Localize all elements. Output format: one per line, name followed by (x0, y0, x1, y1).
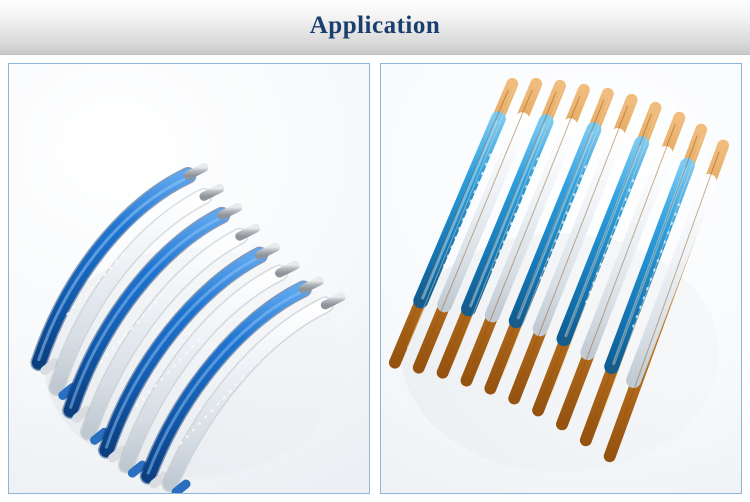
photo-gallery: Fan of blue and white insulated single-c… (0, 55, 750, 502)
wire-bundle-solid-conductor (9, 64, 369, 493)
section-banner: Application (0, 0, 750, 55)
photo-left: Fan of blue and white insulated single-c… (9, 64, 369, 493)
photo-right: Row of blue and white insulated wires wi… (381, 64, 741, 493)
photo-card-left: Fan of blue and white insulated single-c… (8, 63, 370, 494)
page-title: Application (310, 13, 441, 42)
application-image-page: Application (0, 0, 750, 502)
wire-bundle-stranded-copper (381, 64, 741, 493)
photo-card-right: Row of blue and white insulated wires wi… (380, 63, 742, 494)
